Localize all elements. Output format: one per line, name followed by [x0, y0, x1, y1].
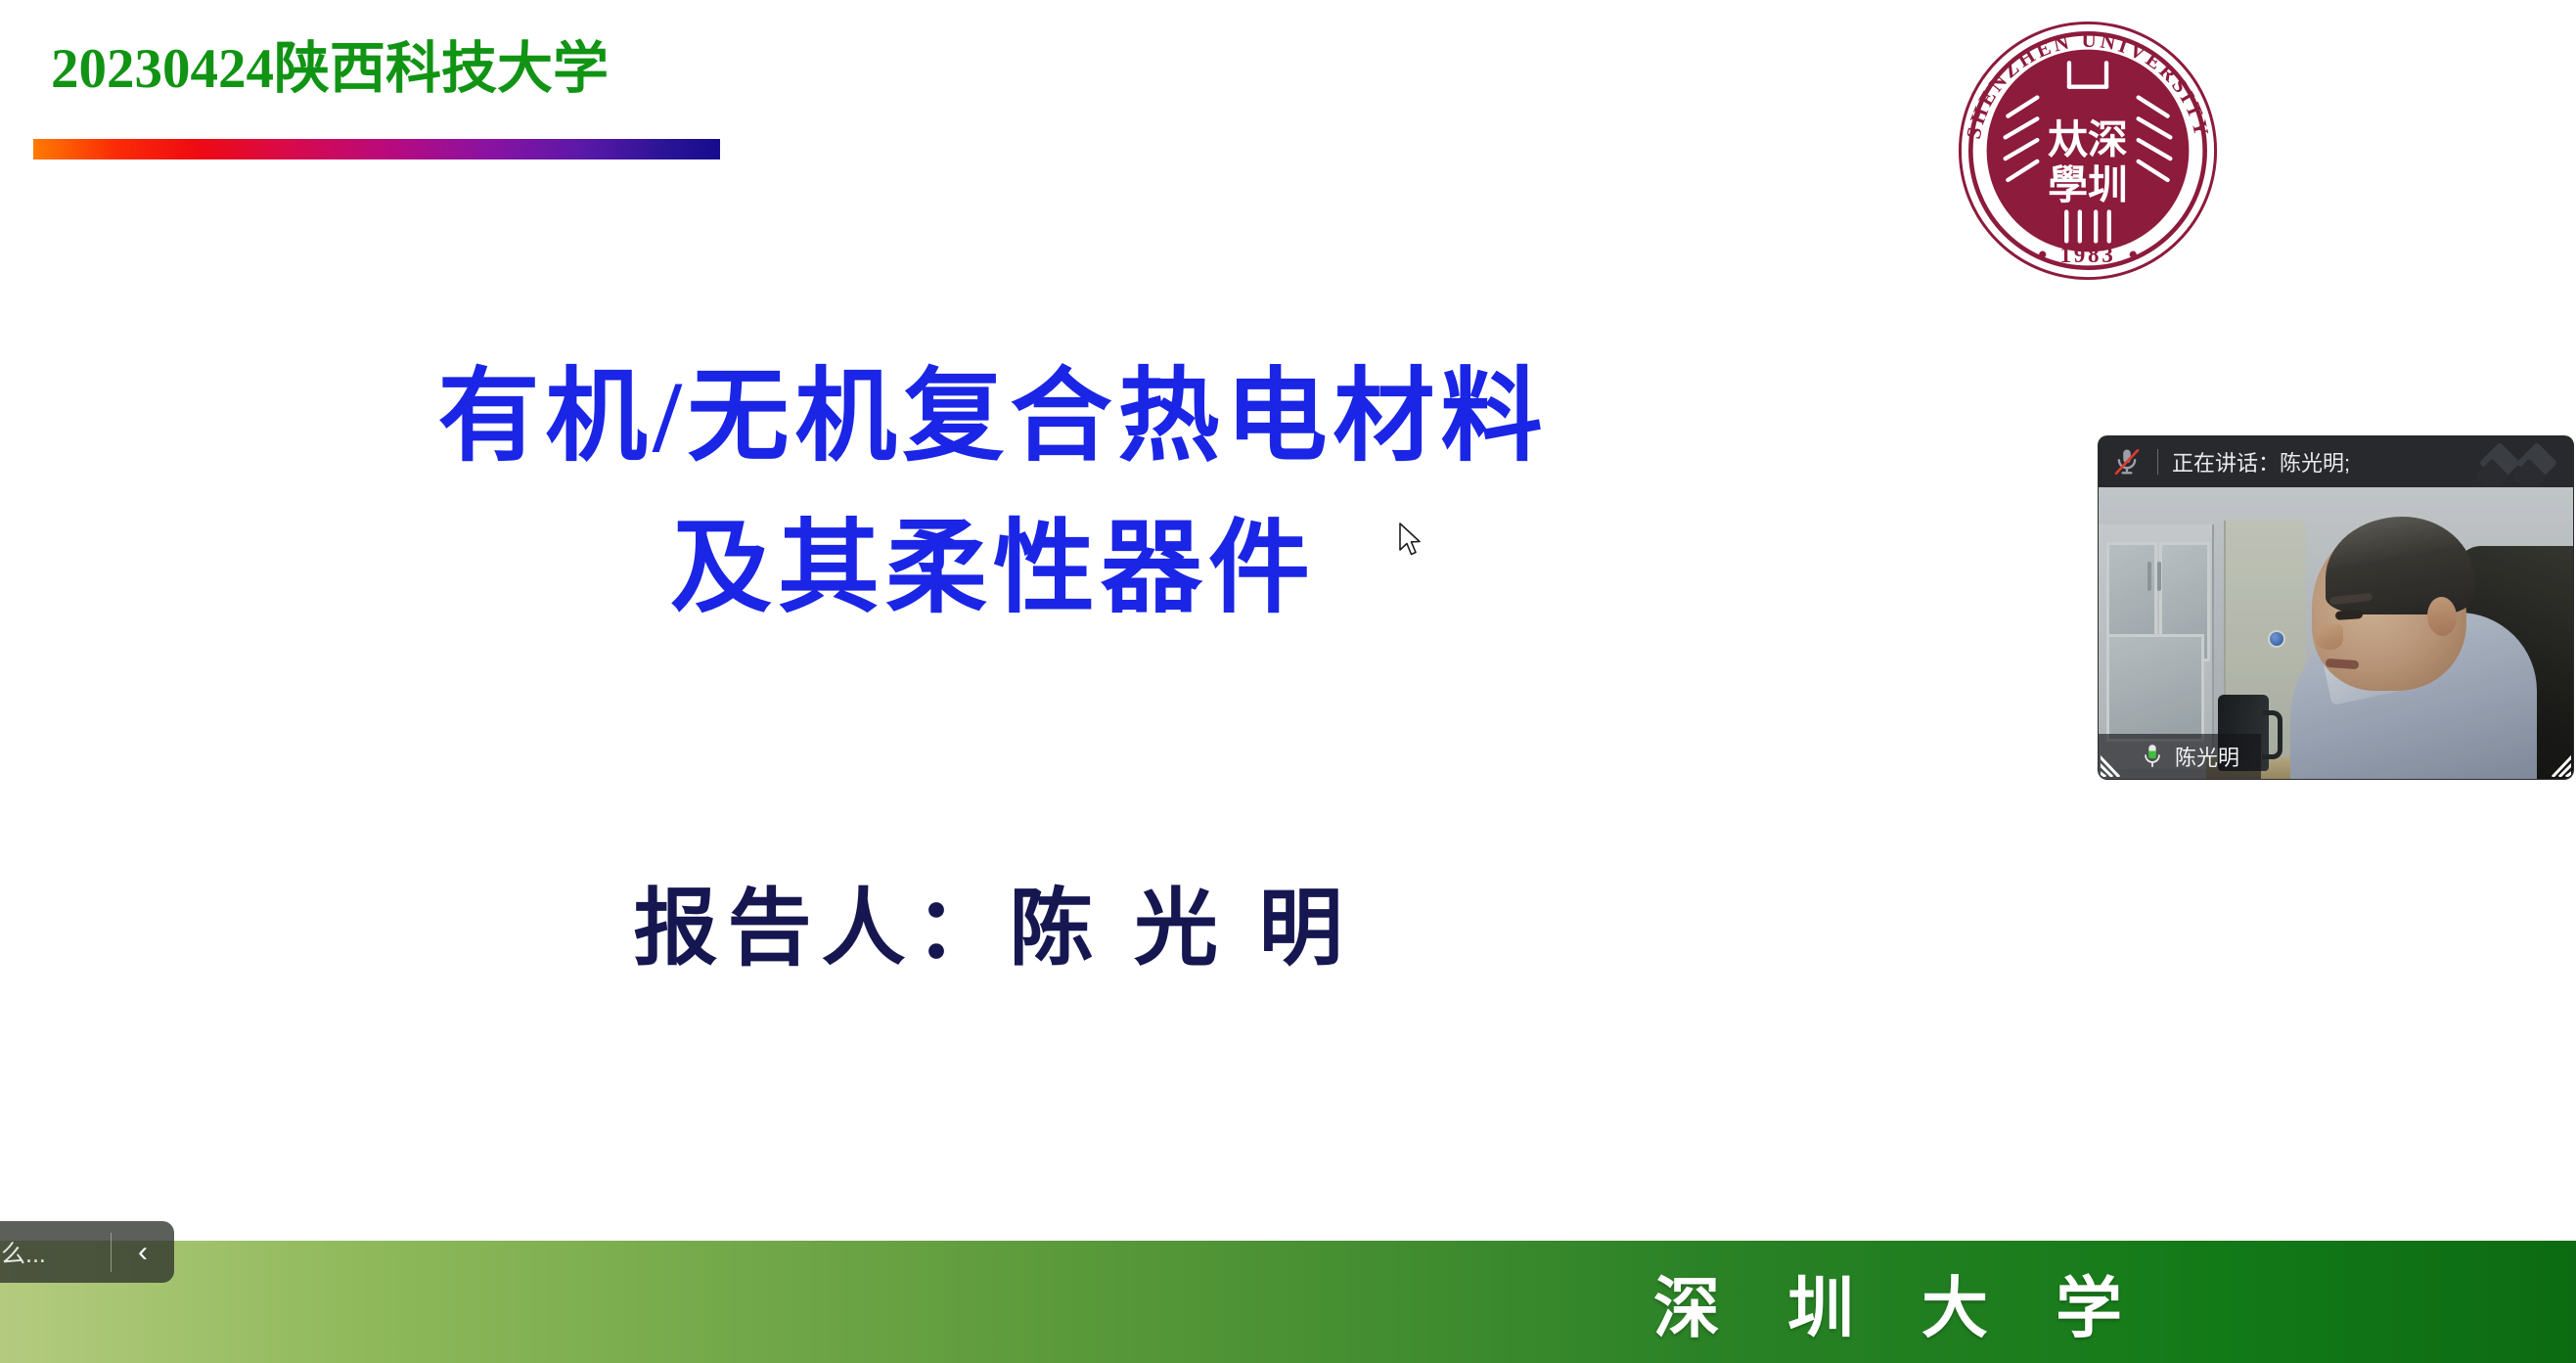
- slide-header-title: 20230424陕西科技大学: [51, 41, 609, 97]
- svg-text:夶深: 夶深: [2048, 116, 2128, 163]
- video-feed[interactable]: 陈光明: [2099, 487, 2573, 779]
- slide-presenter-name: 报告人：陈 光 明: [0, 881, 1986, 977]
- svg-text:學圳: 學圳: [2048, 161, 2128, 208]
- slide-title-block: 有机/无机复合热电材料 及其柔性器件: [0, 352, 1986, 634]
- resize-grip-icon-bottom-right[interactable]: [2538, 744, 2571, 777]
- header-divider: [2157, 449, 2158, 475]
- chat-toolbar[interactable]: 说点什么... ‹: [0, 1221, 174, 1283]
- corner-chevrons-icon: [2477, 438, 2567, 487]
- resize-grip-icon-bottom-left[interactable]: [2101, 744, 2134, 777]
- slide-footer-text: 深 圳 大 学: [1653, 1253, 2147, 1350]
- slide-header-gradient-rule: [33, 139, 720, 159]
- screen-share-stage: 20230424陕西科技大学: [0, 0, 2576, 1363]
- participant-video-panel[interactable]: 正在讲话：陈光明;: [2099, 436, 2573, 779]
- slide-title-line-1: 有机/无机复合热电材料: [0, 352, 1986, 482]
- participant-name-label: 陈光明: [2175, 741, 2239, 772]
- slide-footer-band: 深 圳 大 学: [0, 1241, 2576, 1363]
- chevron-left-icon[interactable]: ‹: [112, 1221, 174, 1283]
- slide-title-line-2: 及其柔性器件: [0, 504, 1986, 634]
- microphone-active-icon: [2142, 744, 2163, 769]
- slide-presenter-block: 报告人：陈 光 明: [0, 881, 1986, 977]
- chat-input[interactable]: 说点什么...: [0, 1221, 111, 1283]
- microphone-muted-icon[interactable]: [2112, 447, 2142, 477]
- video-panel-header: 正在讲话：陈光明;: [2099, 436, 2573, 487]
- active-speaker-label: 正在讲话：陈光明;: [2172, 446, 2350, 477]
- svg-text:1983: 1983: [2059, 243, 2115, 268]
- shenzhen-university-seal-logo: 夶深 學圳 SHENZHEN UNIVERSITY 1983: [1955, 18, 2221, 284]
